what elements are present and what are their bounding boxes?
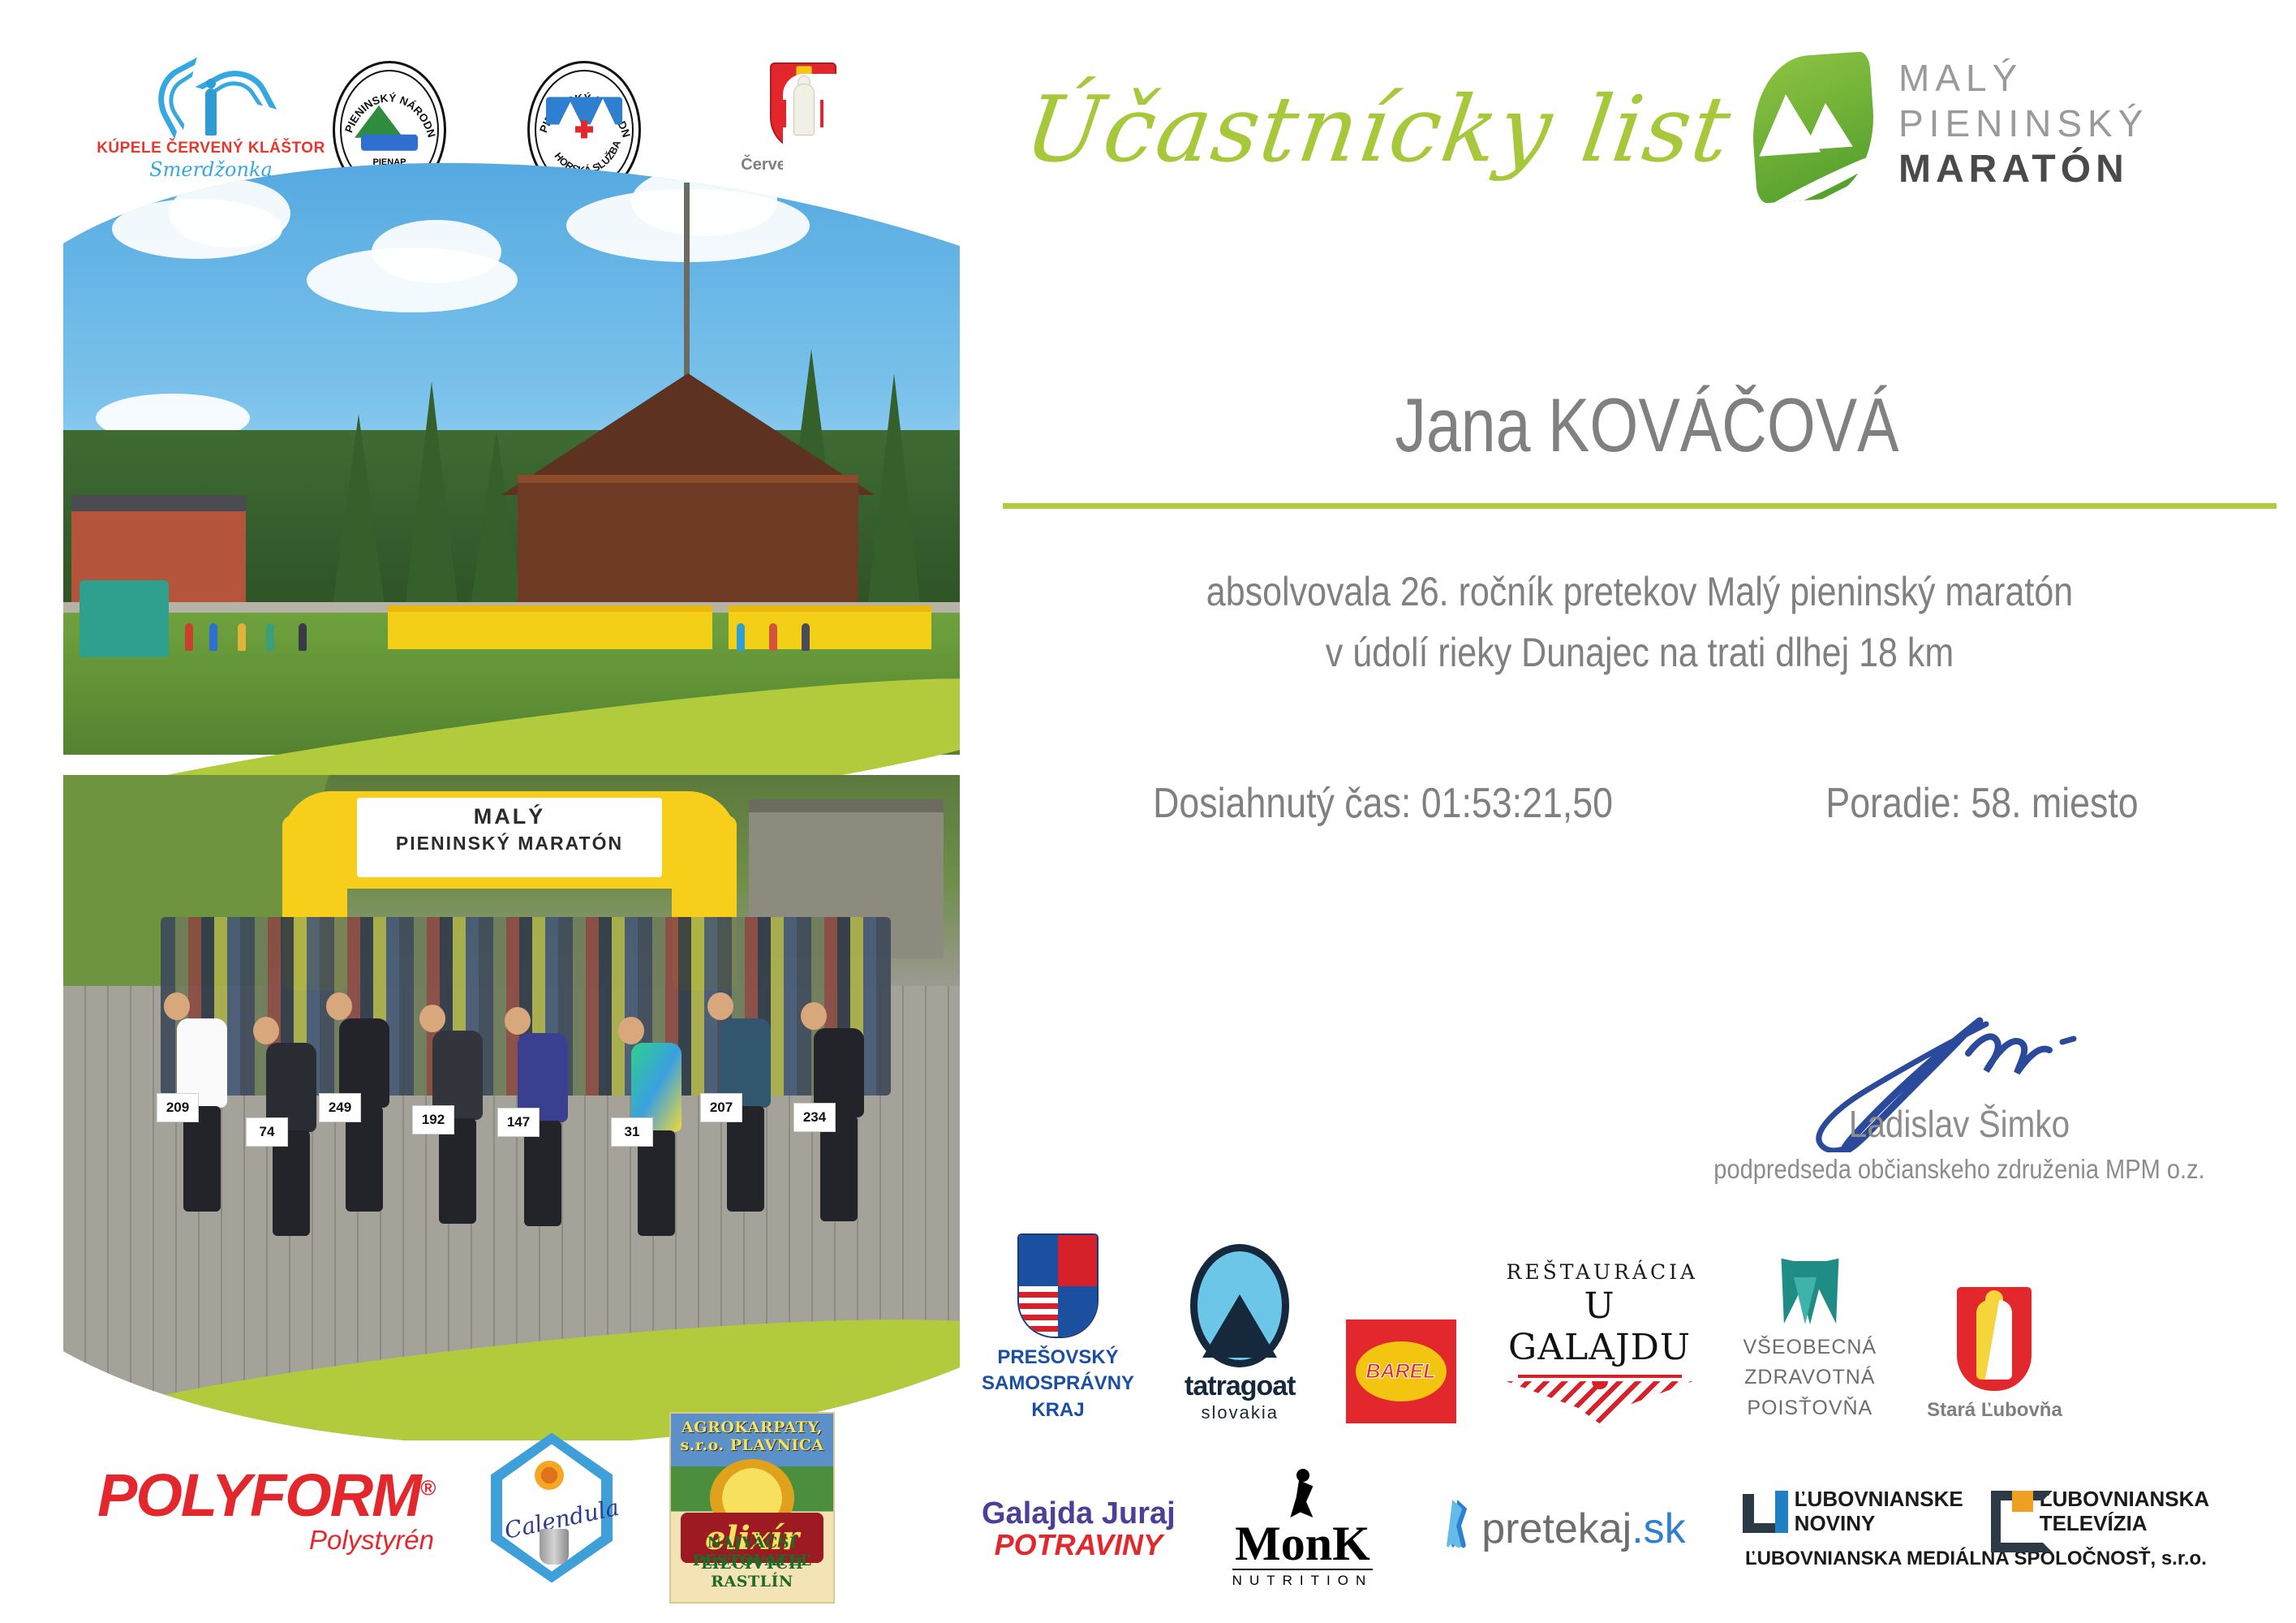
- ln-logo-icon: [1743, 1491, 1788, 1533]
- sponsor-name: U GALAJDU: [1507, 1285, 1693, 1368]
- sponsor-name: POLYFORM: [97, 1462, 420, 1529]
- logo-line-1: MALÝ: [1898, 55, 2148, 101]
- sponsor-row-bottom-left: POLYFORM® Polystyrén Calendula AGROKARPA…: [97, 1412, 957, 1604]
- sponsor-u-galajdu: REŠTAURÁCIA U GALAJDU: [1507, 1260, 1693, 1423]
- media-news-line2: NOVINY: [1795, 1512, 1963, 1536]
- sponsor-agrokarpaty: AGROKARPATY, s.r.o. PLAVNICA elixír NAJV…: [669, 1412, 835, 1604]
- sponsor-lubovnianska-media: ĽUBOVNIANSKE NOVINY ĽUBOVNIANSKA TELEVÍZ…: [1743, 1487, 2209, 1570]
- event-logo: MALÝ PIENINSKÝ MARATÓN: [1744, 49, 2264, 203]
- bib-number: 249: [319, 1093, 361, 1122]
- runners-icon: [1430, 1500, 1472, 1558]
- logo-line-3: MARATÓN: [1898, 146, 2148, 194]
- sponsor-name: Galajda Juraj: [982, 1496, 1176, 1531]
- sponsor-monk-nutrition: MonK NUTRITION: [1232, 1469, 1374, 1589]
- festival-amphitheatre-photo: [63, 150, 960, 755]
- sponsor-calendula: Calendula: [491, 1433, 613, 1583]
- sponsor-presovsky-kraj: PREŠOVSKÝ SAMOSPRÁVNY KRAJ: [982, 1233, 1134, 1423]
- sponsor-tatragoat: tatragoat slovakia: [1185, 1244, 1295, 1423]
- sponsor-galajda-juraj: Galajda Juraj POTRAVINY: [982, 1496, 1176, 1562]
- regional-crest-icon: [1017, 1233, 1099, 1338]
- leaf-mountain-icon: [1748, 51, 1879, 204]
- registered-mark-icon: ®: [420, 1475, 434, 1500]
- goat-mountain-icon: [1190, 1244, 1289, 1367]
- media-company-footer: ĽUBOVNIANSKA MEDIÁLNA SPOLOČNOSŤ, s.r.o.: [1743, 1548, 2209, 1570]
- sponsor-name: MonK: [1232, 1521, 1374, 1567]
- media-tv-line2: TELEVÍZIA: [2040, 1512, 2209, 1536]
- bib-number: 192: [412, 1105, 454, 1134]
- sponsor-caption: VŠEOBECNÁ ZDRAVOTNÁ POISŤOVŇA: [1743, 1332, 1877, 1424]
- vszp-v-icon: [1771, 1250, 1849, 1324]
- bishop-crest-icon: [1957, 1287, 2032, 1391]
- marathon-start-runners-photo: MALÝ PIENINSKÝ MARATÓN 209 74 249: [63, 775, 960, 1440]
- sponsor-sub: POTRAVINY: [982, 1528, 1176, 1562]
- signature-block: Ladislav Šimko podpredseda občianskeho z…: [1639, 1006, 2280, 1185]
- barel-oval-icon: BAREL: [1346, 1319, 1456, 1423]
- arch-text-line1: MALÝ: [357, 804, 662, 829]
- sponsor-barel: BAREL: [1346, 1319, 1456, 1423]
- photo-collage: MALÝ PIENINSKÝ MARATÓN 209 74 249: [63, 150, 960, 1440]
- sponsor-sub: slovakia: [1185, 1402, 1295, 1423]
- sponsor-caption: PREŠOVSKÝ SAMOSPRÁVNY KRAJ: [982, 1345, 1134, 1423]
- page-title: Účastnícky list: [1019, 77, 1738, 183]
- sponsor-name: BAREL: [1365, 1360, 1435, 1384]
- bib-number: 147: [497, 1108, 540, 1137]
- signatory-name: Ladislav Šimko: [1677, 1102, 2241, 1146]
- signatory-role: podpredseda občianskeho združenia MPM o.…: [1677, 1154, 2241, 1185]
- arch-text-line2: PIENINSKÝ MARATÓN: [357, 833, 662, 855]
- running-monk-icon: [1283, 1469, 1321, 1519]
- coat-of-arms-icon: [770, 62, 836, 151]
- bib-number: 74: [246, 1117, 288, 1147]
- sponsor-polyform: POLYFORM® Polystyrén: [97, 1461, 434, 1556]
- finish-place: Poradie: 58. miesto: [1825, 779, 2138, 828]
- folk-ornament-icon: [1507, 1381, 1693, 1423]
- bib-number: 209: [157, 1093, 199, 1122]
- sponsor-pretekaj: pretekaj.sk: [1430, 1500, 1685, 1558]
- bib-number: 31: [611, 1117, 653, 1147]
- sponsor-vszp: VŠEOBECNÁ ZDRAVOTNÁ POISŤOVŇA: [1743, 1250, 1877, 1424]
- tv-logo-icon: [1991, 1491, 2033, 1533]
- sponsor-top-label: REŠTAURÁCIA: [1507, 1260, 1693, 1284]
- bib-number: 207: [700, 1093, 742, 1122]
- sponsor-row-secondary: Galajda Juraj POTRAVINY MonK NUTRITION p…: [982, 1469, 2280, 1589]
- result-stats: Dosiahnutý čas: 01:53:21,50 Poradie: 58.…: [1003, 779, 2277, 828]
- sponsor-name: tatragoat: [1185, 1371, 1295, 1402]
- media-news-line1: ĽUBOVNIANSKE: [1795, 1487, 1963, 1512]
- recipient-name: Jana KOVÁČOVÁ: [1128, 381, 2165, 469]
- sponsor-stara-lubovna: Stará Ľubovňa: [1927, 1287, 2062, 1423]
- accent-divider: [1003, 503, 2277, 509]
- finish-time: Dosiahnutý čas: 01:53:21,50: [1153, 779, 1613, 828]
- water-angel-icon: [150, 61, 272, 138]
- sponsor-bottom-line2: LIEČIVÝCH RASTLÍN: [671, 1555, 833, 1591]
- sponsor-caption: Stará Ľubovňa: [1927, 1397, 2062, 1423]
- description-line-1: absolvovala 26. ročník pretekov Malý pie…: [1092, 568, 2187, 615]
- description-line-2: v údolí rieky Dunajec na trati dlhej 18 …: [1092, 629, 2187, 676]
- sponsor-name: pretekaj: [1481, 1505, 1632, 1552]
- sponsor-name-suffix: .sk: [1632, 1505, 1685, 1552]
- sponsor-row-primary: PREŠOVSKÝ SAMOSPRÁVNY KRAJ tatragoat slo…: [982, 1233, 2280, 1423]
- mortar-pestle-icon: Calendula: [491, 1433, 613, 1583]
- media-tv-line1: ĽUBOVNIANSKA: [2040, 1487, 2209, 1512]
- bib-number: 234: [793, 1103, 836, 1132]
- sponsor-top-label: AGROKARPATY, s.r.o. PLAVNICA: [671, 1414, 833, 1454]
- sponsor-sub: NUTRITION: [1232, 1569, 1374, 1589]
- logo-line-2: PIENINSKÝ: [1898, 101, 2148, 146]
